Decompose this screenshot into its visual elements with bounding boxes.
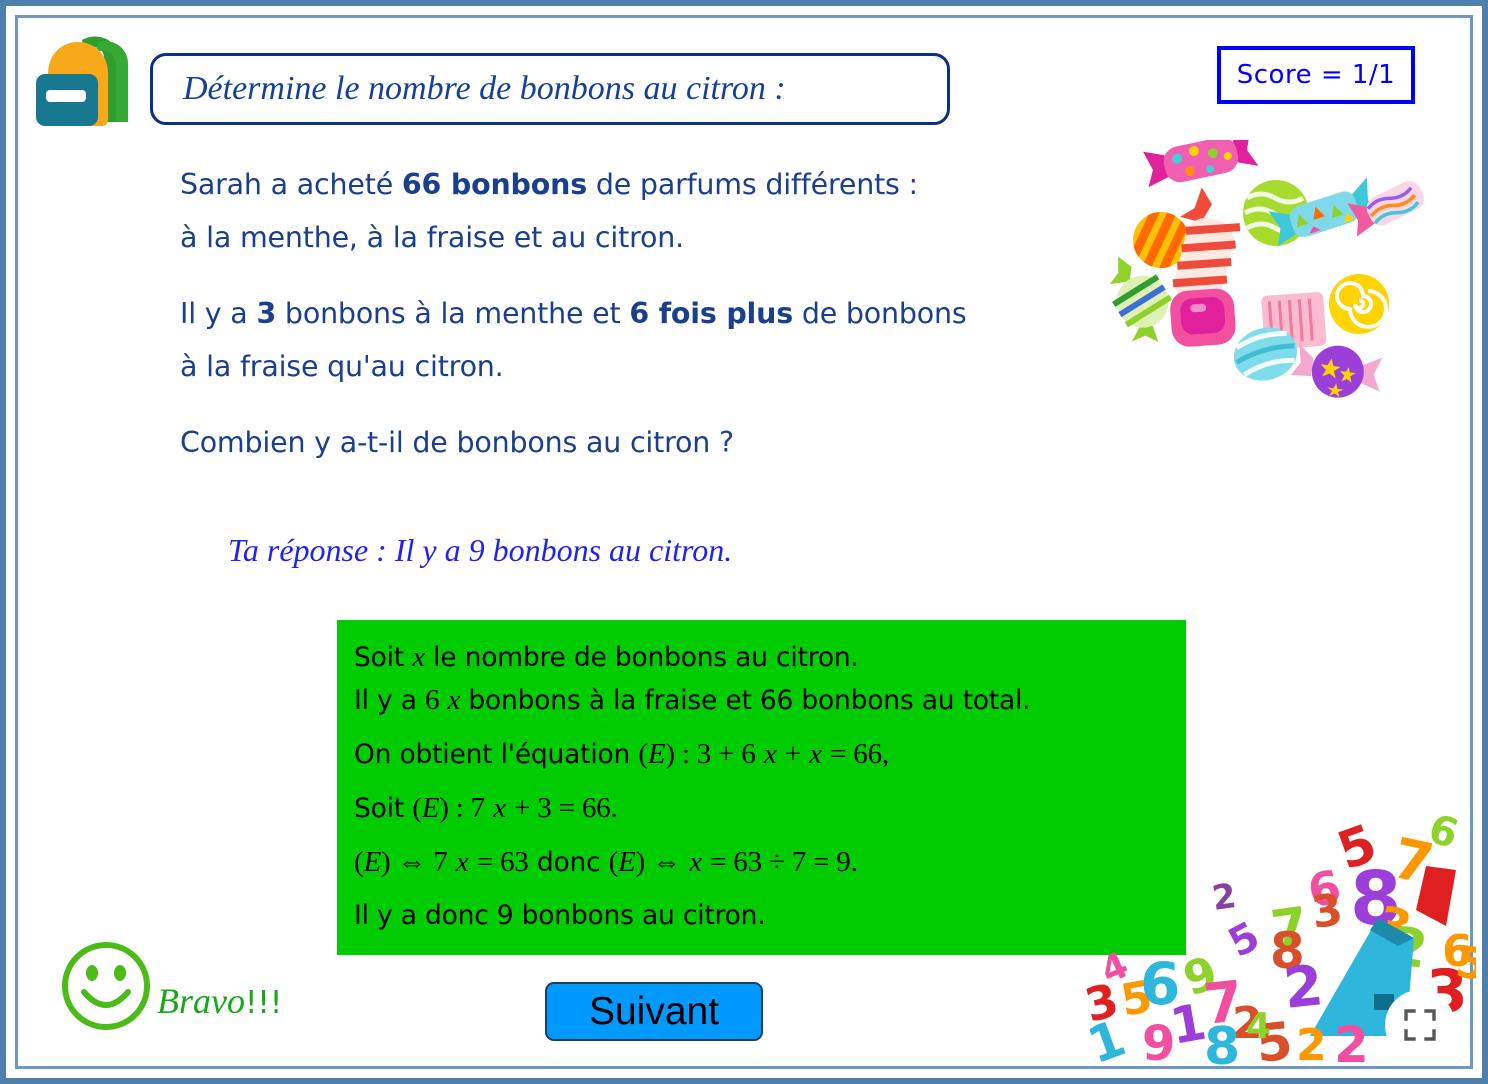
fullscreen-button[interactable] <box>1385 990 1455 1060</box>
next-button-label: Suivant <box>589 990 719 1034</box>
bravo-label: Bravo!!! <box>157 980 282 1022</box>
statement-text: Combien y a-t-il de bonbons au citron ? <box>180 426 734 459</box>
statement-text: à la fraise qu'au citron. <box>180 350 504 383</box>
statement-line: Sarah a acheté 66 bonbons de parfums dif… <box>180 158 1070 211</box>
svg-text:9: 9 <box>1142 1016 1175 1066</box>
statement-emphasis: 6 fois plus <box>629 297 793 330</box>
statement-paragraph: Il y a 3 bonbons à la menthe et 6 fois p… <box>180 287 1070 393</box>
statement-text: de parfums différents : <box>587 168 918 201</box>
solution-box: Soit x le nombre de bonbons au citron. I… <box>337 620 1186 955</box>
feedback-group: Bravo!!! <box>60 940 310 1030</box>
student-answer: Ta réponse : Il y a 9 bonbons au citron. <box>228 532 732 569</box>
statement-paragraph: Sarah a acheté 66 bonbons de parfums dif… <box>180 158 1070 264</box>
svg-text:2: 2 <box>1210 876 1239 919</box>
statement-text: à la menthe, à la fraise et au citron. <box>180 221 684 254</box>
svg-text:8: 8 <box>1204 1017 1240 1066</box>
statement-line: Combien y a-t-il de bonbons au citron ? <box>180 416 1070 469</box>
statement-line: à la menthe, à la fraise et au citron. <box>180 211 1070 264</box>
svg-text:2: 2 <box>1296 1020 1327 1066</box>
statement-line: à la fraise qu'au citron. <box>180 340 1070 393</box>
solution-line-4: Soit (E) : 7 x + 3 = 66. <box>354 787 1186 830</box>
question-banner: Détermine le nombre de bonbons au citron… <box>150 53 950 125</box>
fullscreen-icon <box>1403 1008 1437 1042</box>
solution-line-5: (E) ⇔ 7 x = 63 donc (E) ⇔ x = 63 ÷ 7 = 9… <box>354 841 1186 884</box>
statement-emphasis: 66 bonbons <box>402 168 587 201</box>
svg-text:5: 5 <box>1221 913 1267 967</box>
bravo-word: Bravo <box>157 981 245 1021</box>
statement-text: bonbons à la menthe et <box>276 297 629 330</box>
next-button[interactable]: Suivant <box>545 982 763 1041</box>
candies-illustration <box>1095 140 1425 430</box>
statement-paragraph: Combien y a-t-il de bonbons au citron ? <box>180 416 1070 469</box>
backpack-icon <box>24 22 136 134</box>
statement-line: Il y a 3 bonbons à la menthe et 6 fois p… <box>180 287 1070 340</box>
statement-emphasis: 3 <box>256 297 276 330</box>
statement-text: Il y a <box>180 297 256 330</box>
score-label: Score = 1/1 <box>1237 60 1395 90</box>
statement-text: Sarah a acheté <box>180 168 402 201</box>
exercise-canvas: Détermine le nombre de bonbons au citron… <box>0 0 1488 1084</box>
solution-line-6: Il y a donc 9 bonbons au citron. <box>354 895 1186 937</box>
solution-line-3: On obtient l'équation (E) : 3 + 6 x + x … <box>354 733 1186 776</box>
solution-line-1: Soit x le nombre de bonbons au citron. <box>354 636 1186 679</box>
svg-text:2: 2 <box>1334 1016 1369 1066</box>
smiley-face-icon <box>60 940 152 1032</box>
score-badge: Score = 1/1 <box>1217 46 1415 104</box>
problem-statement: Sarah a acheté 66 bonbons de parfums dif… <box>180 158 1070 469</box>
bravo-exclaim: !!! <box>245 985 282 1021</box>
page-title: Détermine le nombre de bonbons au citron… <box>183 70 786 108</box>
statement-text: de bonbons <box>793 297 967 330</box>
svg-text:4: 4 <box>1246 1006 1271 1047</box>
solution-line-2: Il y a 6 x bonbons à la fraise et 66 bon… <box>354 679 1186 722</box>
